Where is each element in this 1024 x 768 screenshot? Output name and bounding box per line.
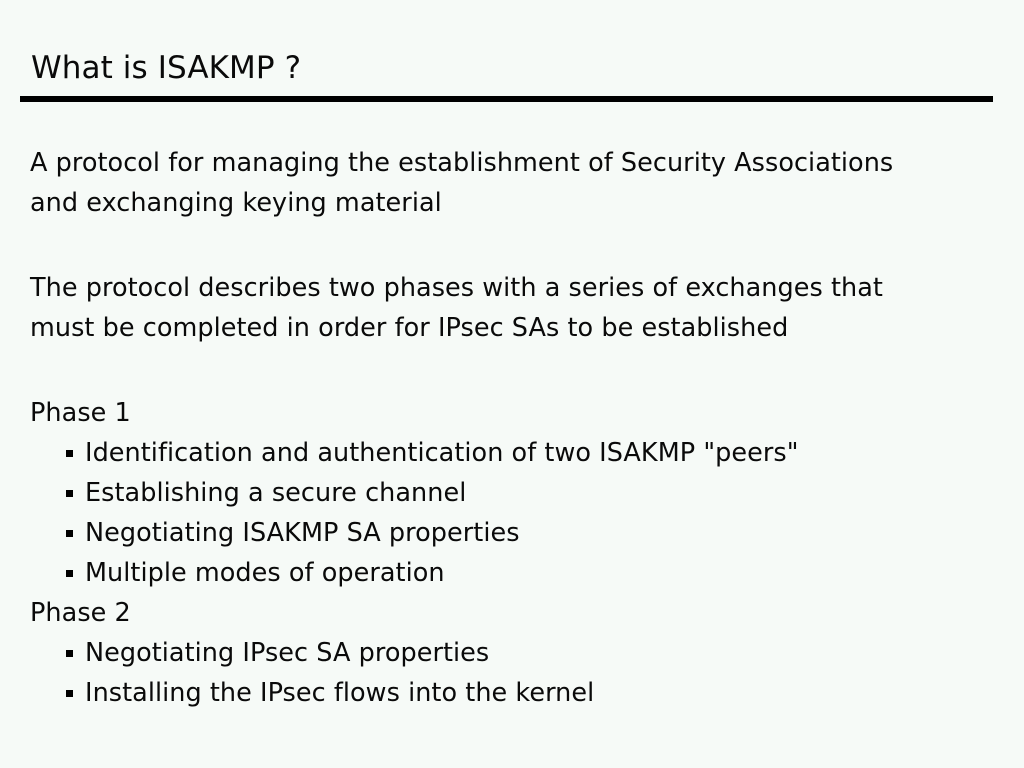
paragraph-2-line-1: The protocol describes two phases with a… [30,268,1024,308]
list-item: Establishing a secure channel [30,473,1024,513]
list-item-label: Negotiating ISAKMP SA properties [85,518,520,548]
list-item-label: Negotiating IPsec SA properties [85,638,489,668]
page-title: What is ISAKMP ? [0,46,1024,90]
square-bullet-icon [66,490,73,497]
phase-2-bullet-list: Negotiating IPsec SA properties Installi… [30,633,1024,713]
phase-2-heading: Phase 2 [30,593,1024,633]
list-item: Multiple modes of operation [30,553,1024,593]
list-item: Installing the IPsec flows into the kern… [30,673,1024,713]
title-divider-rule [20,96,993,102]
list-item-label: Multiple modes of operation [85,558,445,588]
phase-1-heading: Phase 1 [30,393,1024,433]
list-item-label: Establishing a secure channel [85,478,466,508]
square-bullet-icon [66,570,73,577]
paragraph-1-line-1: A protocol for managing the establishmen… [30,143,1024,183]
paragraph-1-line-2: and exchanging keying material [30,183,1024,223]
paragraph-2-line-2: must be completed in order for IPsec SAs… [30,308,1024,348]
list-item: Negotiating IPsec SA properties [30,633,1024,673]
paragraph-spacer-1 [30,223,1024,268]
phase-1-bullet-list: Identification and authentication of two… [30,433,1024,593]
list-item-label: Identification and authentication of two… [85,438,798,468]
list-item: Identification and authentication of two… [30,433,1024,473]
list-item: Negotiating ISAKMP SA properties [30,513,1024,553]
section-spacer [30,348,1024,393]
slide-body: A protocol for managing the establishmen… [0,143,1024,713]
list-item-label: Installing the IPsec flows into the kern… [85,678,594,708]
square-bullet-icon [66,450,73,457]
square-bullet-icon [66,690,73,697]
presentation-slide: What is ISAKMP ? A protocol for managing… [0,0,1024,768]
slide-title-block: What is ISAKMP ? [0,46,1024,102]
square-bullet-icon [66,650,73,657]
square-bullet-icon [66,530,73,537]
